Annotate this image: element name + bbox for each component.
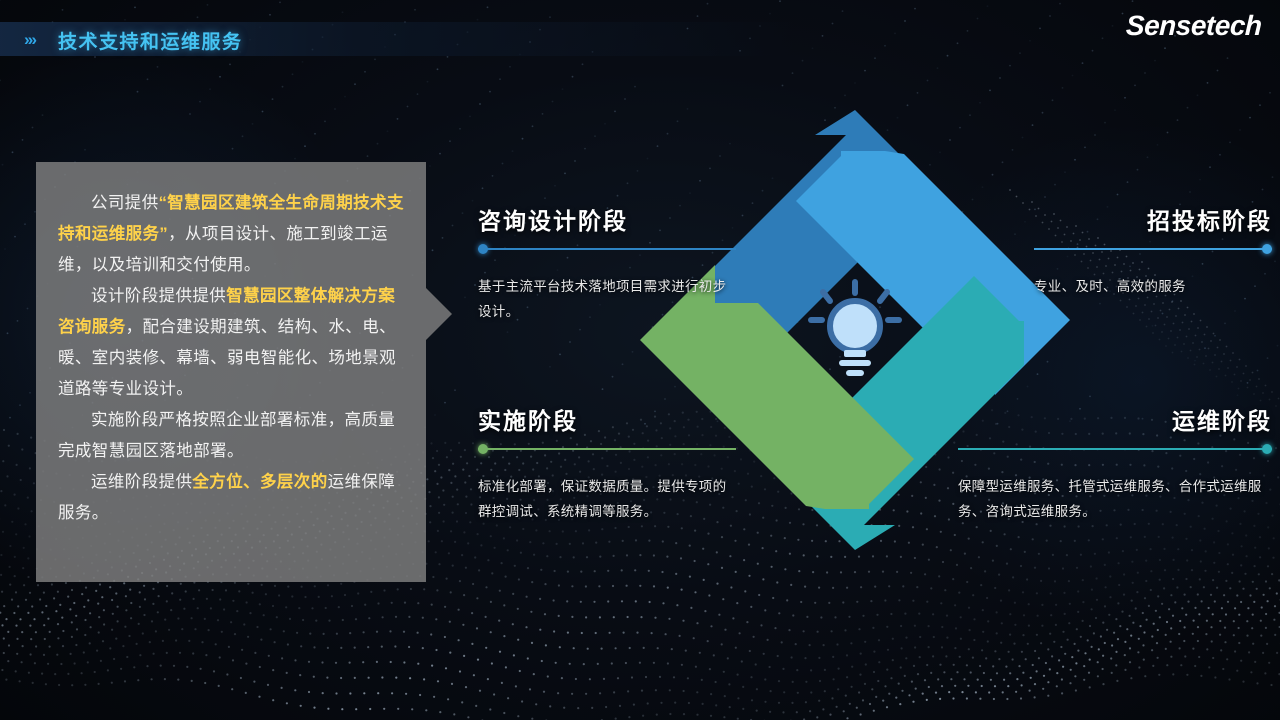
slide-canvas: ››› 技术支持和运维服务 Sensetech [0,0,1280,720]
stage-bid-title: 招投标阶段 [1034,202,1272,236]
paragraph-text: 设计阶段提供提供 [91,287,226,305]
paragraph-text: 公司提供 [91,194,159,212]
divider-dot [1262,244,1272,254]
panel-paragraph: 实施阶段严格按照企业部署标准，高质量完成智慧园区落地部署。 [58,405,404,467]
panel-pointer-arrow [426,288,452,340]
divider-dot [478,444,488,454]
paragraph-text: 实施阶段严格按照企业部署标准，高质量完成智慧园区落地部署。 [58,411,395,460]
divider-line [958,448,1272,450]
panel-paragraph: 公司提供“智慧园区建筑全生命周期技术支持和运维服务”，从项目设计、施工到竣工运维… [58,188,404,281]
brand-logo: Sensetech [1126,10,1263,42]
highlighted-text: 全方位、多层次的 [192,473,327,491]
panel-paragraph: 设计阶段提供提供智慧园区整体解决方案咨询服务，配合建设期建筑、结构、水、电、暖、… [58,281,404,405]
stage-consult[interactable]: 咨询设计阶段 基于主流平台技术落地项目需求进行初步设计。 [478,202,736,324]
stage-bid-divider [1034,244,1272,254]
stage-ops[interactable]: 运维阶段 保障型运维服务、托管式运维服务、合作式运维服务、咨询式运维服务。 [958,402,1272,524]
divider-line [478,448,736,450]
stage-consult-divider [478,244,736,254]
divider-line [478,248,736,250]
divider-dot [478,244,488,254]
panel-paragraph: 运维阶段提供全方位、多层次的运维保障服务。 [58,467,404,529]
stage-impl-description: 标准化部署，保证数据质量。提供专项的群控调试、系统精调等服务。 [478,474,736,524]
paragraph-text: 运维阶段提供 [91,473,192,491]
panel-paragraph-list: 公司提供“智慧园区建筑全生命周期技术支持和运维服务”，从项目设计、施工到竣工运维… [58,188,404,529]
stage-bid-description: 专业、及时、高效的服务 [1034,274,1272,299]
stage-impl-divider [478,444,736,454]
chevron-right-icon: ››› [24,30,35,50]
divider-dot [1262,444,1272,454]
stage-consult-title: 咨询设计阶段 [478,202,736,236]
divider-line [1034,248,1272,250]
stage-impl-title: 实施阶段 [478,402,736,436]
stage-ops-divider [958,444,1272,454]
stage-ops-description: 保障型运维服务、托管式运维服务、合作式运维服务、咨询式运维服务。 [958,474,1272,524]
stage-bid[interactable]: 招投标阶段 专业、及时、高效的服务 [1034,202,1272,299]
stage-ops-title: 运维阶段 [958,402,1272,436]
stage-consult-description: 基于主流平台技术落地项目需求进行初步设计。 [478,274,736,324]
lightbulb-icon [803,274,907,386]
stage-impl[interactable]: 实施阶段 标准化部署，保证数据质量。提供专项的群控调试、系统精调等服务。 [478,402,736,524]
page-title: 技术支持和运维服务 [58,27,243,54]
description-panel: 公司提供“智慧园区建筑全生命周期技术支持和运维服务”，从项目设计、施工到竣工运维… [36,162,426,582]
